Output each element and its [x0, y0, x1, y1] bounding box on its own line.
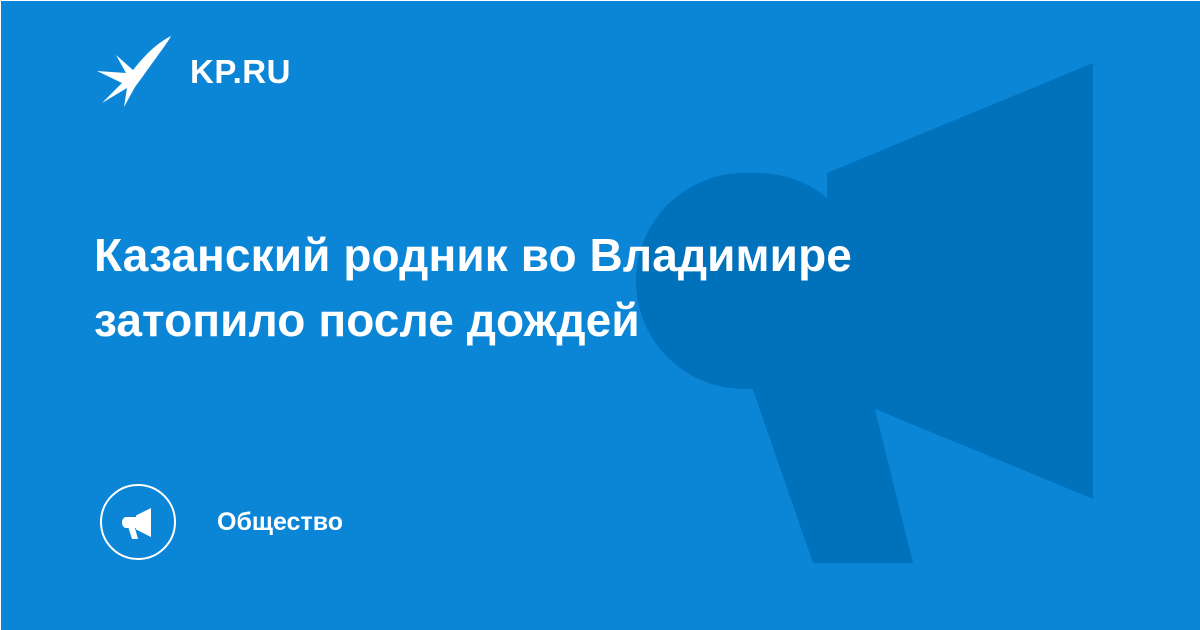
social-share-card: KP.RU Казанский родник во Владимире зато… — [0, 0, 1200, 630]
megaphone-icon — [117, 501, 159, 543]
category-icon-circle — [100, 484, 176, 560]
category-label: Общество — [217, 510, 343, 535]
article-headline: Казанский родник во Владимире затопило п… — [94, 223, 1054, 353]
swallow-bird-icon — [94, 33, 174, 109]
brand-wordmark: KP.RU — [190, 55, 291, 88]
category-badge[interactable]: Общество — [100, 483, 343, 561]
brand-logo[interactable]: KP.RU — [94, 33, 291, 109]
